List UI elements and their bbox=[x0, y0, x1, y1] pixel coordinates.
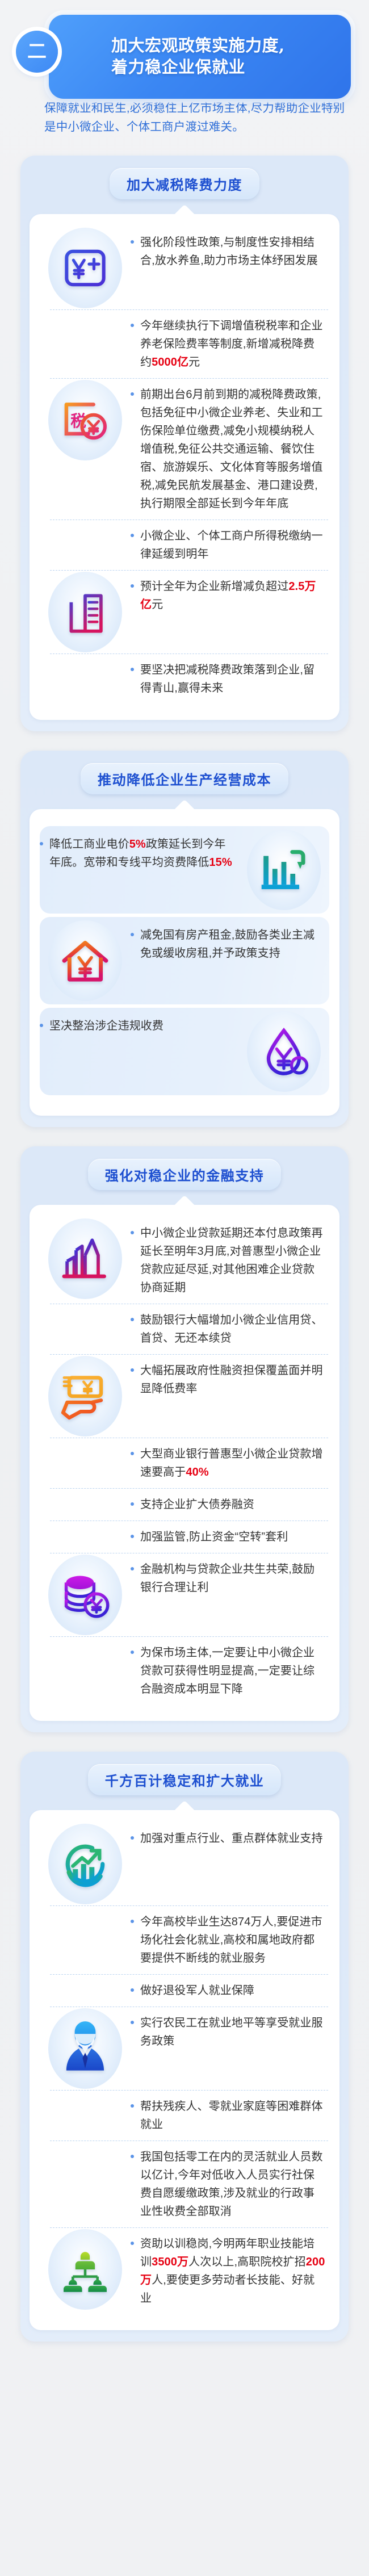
section-number-text: 二 bbox=[27, 42, 47, 61]
bullet-text-cell: 大型商业银行普惠型小微企业贷款增速要高于40% bbox=[131, 1439, 329, 1487]
bullet-text: 做好退役军人就业保障 bbox=[140, 1982, 326, 2000]
people-network-icon bbox=[48, 2229, 122, 2310]
bullet-text: 支持企业扩大债券融资 bbox=[140, 1496, 326, 1514]
section-header: 加大减税降费力度 bbox=[30, 168, 339, 199]
bullet-row: 鼓励银行大幅增加小微企业信用贷、首贷、无还本续贷 bbox=[40, 1305, 329, 1353]
bullet-row: 小微企业、个体工商户所得税缴纳一律延缓到明年 bbox=[40, 521, 329, 569]
icon-cell bbox=[238, 830, 329, 910]
bullet-item: 小微企业、个体工商户所得税缴纳一律延缓到明年 bbox=[131, 521, 326, 569]
bullet-text: 减免国有房产租金,鼓励各类业主减免或缓收房租,并予政策支持 bbox=[140, 926, 326, 962]
bullet-text-cell: 今年高校毕业生达874万人,要促进市场化社会化就业,高校和属地政府都要提供不断线… bbox=[131, 1907, 329, 1973]
bullet-divider bbox=[50, 1974, 328, 1975]
bullet-text-cell: 强化阶段性政策,与制度性安排相结合,放水养鱼,助力市场主体纾困发展 bbox=[131, 228, 329, 275]
icon-cell: 税 bbox=[40, 380, 131, 460]
bullet-text-cell: 加强监管,防止资金“空转”套利 bbox=[131, 1522, 329, 1552]
bullet-text-cell: 金融机构与贷款企业共生共荣,鼓励银行合理让利 bbox=[131, 1555, 329, 1602]
bullet-item: 大幅拓展政府性融资担保覆盖面并明显降低费率 bbox=[131, 1356, 326, 1404]
bullet-divider bbox=[50, 1636, 328, 1637]
bullet-divider bbox=[50, 378, 328, 379]
bullet-divider bbox=[50, 1304, 328, 1304]
bullet-row: 减免国有房产租金,鼓励各类业主减免或缓收房租,并予政策支持 bbox=[40, 920, 329, 1001]
page-header: 二 加大宏观政策实施力度, 着力稳企业保就业 bbox=[0, 0, 369, 86]
highlight-number: 3500万 bbox=[152, 2256, 188, 2268]
bullet-text: 加强监管,防止资金“空转”套利 bbox=[140, 1528, 326, 1546]
bullet-dot-icon bbox=[131, 534, 134, 537]
section-body: 强化阶段性政策,与制度性安排相结合,放水养鱼,助力市场主体纾困发展今年继续执行下… bbox=[30, 214, 339, 720]
section-body: 中小微企业贷款延期还本付息政策再延长至明年3月底,对普惠型小微企业贷款应延尽延,… bbox=[30, 1205, 339, 1721]
bullet-text: 大型商业银行普惠型小微企业贷款增速要高于40% bbox=[140, 1445, 326, 1481]
bullet-text: 要坚决把减税降费政策落到企业,留得青山,赢得未来 bbox=[140, 661, 326, 697]
bullet-list: 降低工商业电价5%政策延长到今年年底。宽带和专线平均资费降低15% 减免国有房产… bbox=[40, 826, 329, 1095]
bullet-row: 要坚决把减税降费政策落到企业,留得青山,赢得未来 bbox=[40, 655, 329, 703]
bullet-row: 做好退役军人就业保障 bbox=[40, 1976, 329, 2005]
bullet-divider bbox=[50, 1354, 328, 1355]
bullet-row: 加强对重点行业、重点群体就业支持 bbox=[40, 1824, 329, 1904]
bullet-item: 降低工商业电价5%政策延长到今年年底。宽带和专线平均资费降低15% bbox=[40, 830, 235, 877]
bullet-row: 中小微企业贷款延期还本付息政策再延长至明年3月底,对普惠型小微企业贷款应延尽延,… bbox=[40, 1218, 329, 1302]
bullet-dot-icon bbox=[131, 2155, 134, 2158]
bullet-item: 加强对重点行业、重点群体就业支持 bbox=[131, 1824, 326, 1853]
bullet-item: 坚决整治涉企违规收费 bbox=[40, 1011, 235, 1041]
section-title-lower-operating-cost: 推动降低企业生产经营成本 bbox=[81, 763, 288, 794]
bullet-text-cell: 帮扶残疾人、零就业家庭等困难群体就业 bbox=[131, 2092, 329, 2139]
bullet-divider bbox=[50, 2141, 328, 2141]
bullet-row: 坚决整治涉企违规收费 bbox=[40, 1011, 329, 1092]
sections-container: 加大减税降费力度 强化阶段性政策,与制度性安排相结合,放水养鱼,助力市场主体纾困… bbox=[0, 156, 369, 2342]
page-title-line1: 加大宏观政策实施力度, bbox=[111, 35, 339, 57]
bullet-list: 强化阶段性政策,与制度性安排相结合,放水养鱼,助力市场主体纾困发展今年继续执行下… bbox=[40, 228, 329, 703]
bullet-dot-icon bbox=[40, 842, 43, 845]
bullet-row: 实行农民工在就业地平等享受就业服务政策 bbox=[40, 2008, 329, 2089]
infographic-page: 二 加大宏观政策实施力度, 着力稳企业保就业 保障就业和民生,必须稳住上亿市场主… bbox=[0, 0, 369, 2576]
bullet-row: 支持企业扩大债券融资 bbox=[40, 1490, 329, 1519]
section-header: 强化对稳企业的金融支持 bbox=[30, 1159, 339, 1190]
bullet-item: 减免国有房产租金,鼓励各类业主减免或缓收房租,并予政策支持 bbox=[131, 920, 326, 968]
bullet-item: 支持企业扩大债券融资 bbox=[131, 1490, 326, 1519]
section-body: 加强对重点行业、重点群体就业支持今年高校毕业生达874万人,要促进市场化社会化就… bbox=[30, 1810, 339, 2330]
section-body: 降低工商业电价5%政策延长到今年年底。宽带和专线平均资费降低15% 减免国有房产… bbox=[30, 809, 339, 1116]
page-title-line2: 着力稳企业保就业 bbox=[111, 57, 339, 78]
bar-chart-down-arrow-icon bbox=[247, 830, 321, 910]
bullet-divider bbox=[50, 1553, 328, 1553]
section-title-stabilize-employment: 千方百计稳定和扩大就业 bbox=[88, 1764, 282, 1795]
bullet-row: 税 前期出台6月前到期的减税降费政策,包括免征中小微企业养老、失业和工伤保险单位… bbox=[40, 380, 329, 518]
icon-cell bbox=[40, 572, 131, 652]
highlight-card: 坚决整治涉企违规收费 bbox=[40, 1008, 329, 1095]
person-suit-icon bbox=[48, 2008, 122, 2089]
bullet-text-cell: 资助以训稳岗,今明两年职业技能培训3500万人次以上,高职院校扩招200万人,要… bbox=[131, 2229, 329, 2313]
bullet-item: 帮扶残疾人、零就业家庭等困难群体就业 bbox=[131, 2092, 326, 2139]
bullet-row: 资助以训稳岗,今明两年职业技能培训3500万人次以上,高职院校扩招200万人,要… bbox=[40, 2229, 329, 2313]
bullet-dot-icon bbox=[131, 2021, 134, 2024]
bullet-text-cell: 减免国有房产租金,鼓励各类业主减免或缓收房租,并予政策支持 bbox=[131, 920, 329, 968]
bullet-text-cell: 鼓励银行大幅增加小微企业信用贷、首贷、无还本续贷 bbox=[131, 1305, 329, 1353]
bullet-dot-icon bbox=[131, 2104, 134, 2108]
bullet-text: 坚决整治涉企违规收费 bbox=[49, 1017, 235, 1035]
bullet-dot-icon bbox=[131, 1836, 134, 1840]
bullet-item: 加强监管,防止资金“空转”套利 bbox=[131, 1522, 326, 1552]
building-chart-icon bbox=[48, 572, 122, 652]
bullet-item: 金融机构与贷款企业共生共荣,鼓励银行合理让利 bbox=[131, 1555, 326, 1602]
bullet-dot-icon bbox=[131, 240, 134, 244]
bullet-item: 今年继续执行下调增值税税率和企业养老保险费率等制度,新增减税降费约5000亿元 bbox=[131, 311, 326, 377]
bullet-dot-icon bbox=[131, 1452, 134, 1455]
intro-paragraph: 保障就业和民生,必须稳住上亿市场主体,尽力帮助企业特别是中小微企业、个体工商户渡… bbox=[44, 99, 345, 136]
section-number-badge: 二 bbox=[16, 31, 58, 73]
bullet-divider bbox=[50, 1488, 328, 1489]
bullet-text: 为保市场主体,一定要让中小微企业贷款可获得性明显提高,一定要让综合融资成本明显下… bbox=[140, 1644, 326, 1698]
icon-cell bbox=[40, 1555, 131, 1635]
bullet-divider bbox=[50, 2090, 328, 2091]
icon-cell bbox=[40, 2229, 131, 2310]
highlight-card: 减免国有房产租金,鼓励各类业主减免或缓收房租,并予政策支持 bbox=[40, 917, 329, 1004]
bullet-text: 金融机构与贷款企业共生共荣,鼓励银行合理让利 bbox=[140, 1560, 326, 1597]
bullet-divider bbox=[50, 1521, 328, 1521]
bullet-list: 加强对重点行业、重点群体就业支持今年高校毕业生达874万人,要促进市场化社会化就… bbox=[40, 1824, 329, 2313]
bullet-divider bbox=[50, 654, 328, 654]
bullet-text: 加强对重点行业、重点群体就业支持 bbox=[140, 1829, 326, 1848]
bullet-text-cell: 要坚决把减税降费政策落到企业,留得青山,赢得未来 bbox=[131, 655, 329, 703]
tax-yen-icon: 税 bbox=[48, 380, 122, 460]
bullet-text-cell: 今年继续执行下调增值税税率和企业养老保险费率等制度,新增减税降费约5000亿元 bbox=[131, 311, 329, 377]
bullet-row: 大幅拓展政府性融资担保覆盖面并明显降低费率 bbox=[40, 1356, 329, 1436]
icon-cell bbox=[238, 1011, 329, 1092]
icon-cell bbox=[40, 228, 131, 308]
bullet-row: 降低工商业电价5%政策延长到今年年底。宽带和专线平均资费降低15% bbox=[40, 830, 329, 910]
bullet-dot-icon bbox=[131, 1567, 134, 1570]
bullet-dot-icon bbox=[131, 2242, 134, 2245]
bullet-text: 降低工商业电价5%政策延长到今年年底。宽带和专线平均资费降低15% bbox=[49, 835, 235, 872]
bullet-text-cell: 我国包括零工在内的灵活就业人员数以亿计,今年对低收入人员实行社保费自愿缓缴政策,… bbox=[131, 2142, 329, 2226]
icon-cell bbox=[40, 1356, 131, 1436]
bullet-text: 中小微企业贷款延期还本付息政策再延长至明年3月底,对普惠型小微企业贷款应延尽延,… bbox=[140, 1224, 326, 1297]
bullet-item: 鼓励银行大幅增加小微企业信用贷、首贷、无还本续贷 bbox=[131, 1305, 326, 1353]
bullet-dot-icon bbox=[131, 1920, 134, 1923]
icon-cell bbox=[40, 2008, 131, 2089]
bullet-text-cell: 降低工商业电价5%政策延长到今年年底。宽带和专线平均资费降低15% bbox=[40, 830, 238, 877]
bullet-item: 做好退役军人就业保障 bbox=[131, 1976, 326, 2005]
highlight-card: 降低工商业电价5%政策延长到今年年底。宽带和专线平均资费降低15% bbox=[40, 826, 329, 914]
section-title-financial-support: 强化对稳企业的金融支持 bbox=[88, 1159, 282, 1190]
bullet-row: 预计全年为企业新增减负超过2.5万亿元 bbox=[40, 572, 329, 652]
bullet-item: 预计全年为企业新增减负超过2.5万亿元 bbox=[131, 572, 326, 619]
bullet-item: 今年高校毕业生达874万人,要促进市场化社会化就业,高校和属地政府都要提供不断线… bbox=[131, 1907, 326, 1973]
bullet-row: 帮扶残疾人、零就业家庭等困难群体就业 bbox=[40, 2092, 329, 2139]
bullet-item: 前期出台6月前到期的减税降费政策,包括免征中小微企业养老、失业和工伤保险单位缴费… bbox=[131, 380, 326, 518]
bullet-text: 今年高校毕业生达874万人,要促进市场化社会化就业,高校和属地政府都要提供不断线… bbox=[140, 1913, 326, 1967]
bullet-dot-icon bbox=[131, 392, 134, 396]
icon-cell bbox=[40, 1218, 131, 1299]
bullet-text: 我国包括零工在内的灵活就业人员数以亿计,今年对低收入人员实行社保费自愿缓缴政策,… bbox=[140, 2148, 326, 2221]
bullet-item: 资助以训稳岗,今明两年职业技能培训3500万人次以上,高职院校扩招200万人,要… bbox=[131, 2229, 326, 2313]
bullet-dot-icon bbox=[131, 1368, 134, 1372]
section-title-tax-fee-reduction: 加大减税降费力度 bbox=[110, 168, 259, 199]
city-buildings-icon bbox=[48, 1218, 122, 1299]
bullet-dot-icon bbox=[131, 324, 134, 327]
growth-chart-circle-icon bbox=[48, 1824, 122, 1904]
bullet-text-cell: 小微企业、个体工商户所得税缴纳一律延缓到明年 bbox=[131, 521, 329, 569]
bullet-text: 鼓励银行大幅增加小微企业信用贷、首贷、无还本续贷 bbox=[140, 1311, 326, 1347]
bullet-dot-icon bbox=[40, 1024, 43, 1027]
bullet-item: 我国包括零工在内的灵活就业人员数以亿计,今年对低收入人员实行社保费自愿缓缴政策,… bbox=[131, 2142, 326, 2226]
bullet-row: 我国包括零工在内的灵活就业人员数以亿计,今年对低收入人员实行社保费自愿缓缴政策,… bbox=[40, 2142, 329, 2226]
bullet-text: 实行农民工在就业地平等享受就业服务政策 bbox=[140, 2014, 326, 2050]
bullet-divider bbox=[50, 570, 328, 571]
bullet-text: 今年继续执行下调增值税税率和企业养老保险费率等制度,新增减税降费约5000亿元 bbox=[140, 317, 326, 371]
bullet-text: 帮扶残疾人、零就业家庭等困难群体就业 bbox=[140, 2097, 326, 2134]
bullet-row: 加强监管,防止资金“空转”套利 bbox=[40, 1522, 329, 1552]
section-financial-support: 强化对稳企业的金融支持 中小微企业贷款延期还本付息政策再延长至明年3月底,对普惠… bbox=[20, 1146, 349, 1732]
bullet-text: 预计全年为企业新增减负超过2.5万亿元 bbox=[140, 577, 326, 614]
bullet-text-cell: 加强对重点行业、重点群体就业支持 bbox=[131, 1824, 329, 1853]
bullet-dot-icon bbox=[131, 1502, 134, 1506]
bullet-divider bbox=[50, 309, 328, 310]
bullet-text-cell: 大幅拓展政府性融资担保覆盖面并明显降低费率 bbox=[131, 1356, 329, 1404]
coins-yen-icon bbox=[48, 1555, 122, 1635]
bullet-dot-icon bbox=[131, 1988, 134, 1992]
highlight-number: 5% bbox=[129, 838, 146, 851]
bullet-text: 强化阶段性政策,与制度性安排相结合,放水养鱼,助力市场主体纾困发展 bbox=[140, 233, 326, 270]
bullet-text-cell: 支持企业扩大债券融资 bbox=[131, 1490, 329, 1519]
bullet-row: 金融机构与贷款企业共生共荣,鼓励银行合理让利 bbox=[40, 1555, 329, 1635]
bullet-text-cell: 为保市场主体,一定要让中小微企业贷款可获得性明显提高,一定要让综合融资成本明显下… bbox=[131, 1638, 329, 1704]
bullet-dot-icon bbox=[131, 933, 134, 936]
bullet-row: 今年高校毕业生达874万人,要促进市场化社会化就业,高校和属地政府都要提供不断线… bbox=[40, 1907, 329, 1973]
bullet-dot-icon bbox=[131, 1231, 134, 1234]
bullet-item: 大型商业银行普惠型小微企业贷款增速要高于40% bbox=[131, 1439, 326, 1487]
bullet-item: 强化阶段性政策,与制度性安排相结合,放水养鱼,助力市场主体纾困发展 bbox=[131, 228, 326, 275]
bullet-dot-icon bbox=[131, 1535, 134, 1538]
bullet-row: 为保市场主体,一定要让中小微企业贷款可获得性明显提高,一定要让综合融资成本明显下… bbox=[40, 1638, 329, 1704]
bullet-list: 中小微企业贷款延期还本付息政策再延长至明年3月底,对普惠型小微企业贷款应延尽延,… bbox=[40, 1218, 329, 1704]
bullet-divider bbox=[50, 520, 328, 520]
icon-cell bbox=[40, 1824, 131, 1904]
highlight-number: 40% bbox=[186, 1466, 208, 1478]
bullet-divider bbox=[50, 1905, 328, 1906]
bullet-text: 小微企业、个体工商户所得税缴纳一律延缓到明年 bbox=[140, 527, 326, 563]
bullet-text-cell: 预计全年为企业新增减负超过2.5万亿元 bbox=[131, 572, 329, 619]
bullet-text-cell: 坚决整治涉企违规收费 bbox=[40, 1011, 238, 1041]
droplet-yen-minus-icon bbox=[247, 1011, 321, 1092]
bullet-text: 资助以训稳岗,今明两年职业技能培训3500万人次以上,高职院校扩招200万人,要… bbox=[140, 2235, 326, 2307]
bullet-dot-icon bbox=[131, 1651, 134, 1654]
section-stabilize-employment: 千方百计稳定和扩大就业 加强对重点行业、重点群体就业支持今年高校毕业生达874万… bbox=[20, 1752, 349, 2342]
section-header: 推动降低企业生产经营成本 bbox=[30, 763, 339, 794]
hand-money-icon bbox=[48, 1356, 122, 1436]
section-tax-fee-reduction: 加大减税降费力度 强化阶段性政策,与制度性安排相结合,放水养鱼,助力市场主体纾困… bbox=[20, 156, 349, 731]
highlight-number: 15% bbox=[209, 856, 232, 869]
bullet-text: 大幅拓展政府性融资担保覆盖面并明显降低费率 bbox=[140, 1362, 326, 1398]
bullet-item: 要坚决把减税降费政策落到企业,留得青山,赢得未来 bbox=[131, 655, 326, 703]
bullet-text-cell: 做好退役军人就业保障 bbox=[131, 1976, 329, 2005]
bullet-item: 实行农民工在就业地平等享受就业服务政策 bbox=[131, 2008, 326, 2056]
bullet-text-cell: 实行农民工在就业地平等享受就业服务政策 bbox=[131, 2008, 329, 2056]
bullet-text: 前期出台6月前到期的减税降费政策,包括免征中小微企业养老、失业和工伤保险单位缴费… bbox=[140, 386, 326, 513]
bullet-item: 中小微企业贷款延期还本付息政策再延长至明年3月底,对普惠型小微企业贷款应延尽延,… bbox=[131, 1218, 326, 1302]
header-banner: 加大宏观政策实施力度, 着力稳企业保就业 bbox=[49, 15, 351, 99]
bullet-divider bbox=[50, 1438, 328, 1438]
bullet-row: 今年继续执行下调增值税税率和企业养老保险费率等制度,新增减税降费约5000亿元 bbox=[40, 311, 329, 377]
house-yen-icon bbox=[48, 920, 122, 1001]
bullet-row: 强化阶段性政策,与制度性安排相结合,放水养鱼,助力市场主体纾困发展 bbox=[40, 228, 329, 308]
highlight-number: 5000亿 bbox=[152, 356, 188, 368]
bullet-item: 为保市场主体,一定要让中小微企业贷款可获得性明显提高,一定要让综合融资成本明显下… bbox=[131, 1638, 326, 1704]
bullet-dot-icon bbox=[131, 668, 134, 671]
bullet-row: 大型商业银行普惠型小微企业贷款增速要高于40% bbox=[40, 1439, 329, 1487]
bullet-divider bbox=[50, 2227, 328, 2228]
bullet-text-cell: 前期出台6月前到期的减税降费政策,包括免征中小微企业养老、失业和工伤保险单位缴费… bbox=[131, 380, 329, 518]
yen-plus-minus-icon bbox=[48, 228, 122, 308]
bullet-text-cell: 中小微企业贷款延期还本付息政策再延长至明年3月底,对普惠型小微企业贷款应延尽延,… bbox=[131, 1218, 329, 1302]
bullet-dot-icon bbox=[131, 1318, 134, 1321]
section-lower-operating-cost: 推动降低企业生产经营成本 降低工商业电价5%政策延长到今年年底。宽带和专线平均资… bbox=[20, 751, 349, 1127]
icon-cell bbox=[40, 920, 131, 1001]
bullet-divider bbox=[50, 2007, 328, 2007]
section-header: 千方百计稳定和扩大就业 bbox=[30, 1764, 339, 1795]
bullet-dot-icon bbox=[131, 584, 134, 588]
